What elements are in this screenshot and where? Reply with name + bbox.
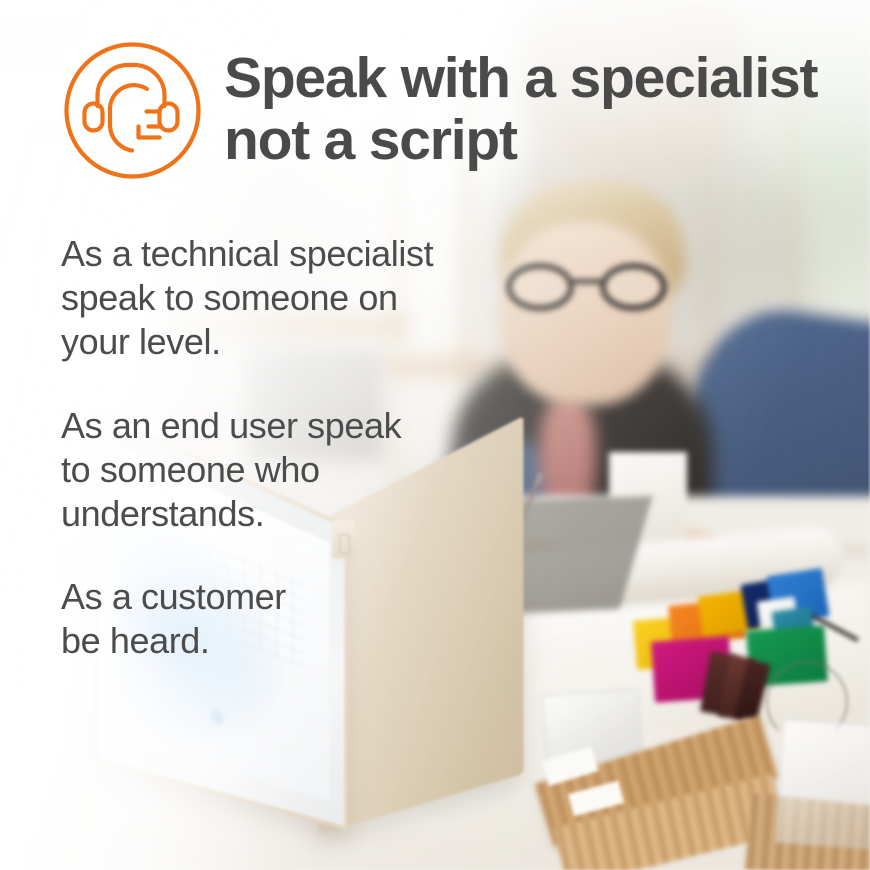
paragraph-line: speak to someone on	[61, 276, 491, 320]
promotional-banner: Speak with a specialist not a script As …	[0, 0, 870, 870]
paragraph-line: be heard.	[61, 619, 491, 663]
paragraph-end-user: As an end user speak to someone who unde…	[61, 404, 491, 536]
paragraph-customer: As a customer be heard.	[61, 575, 491, 663]
paragraph-line: to someone who	[61, 448, 491, 492]
headline-line-1: Speak with a specialist	[224, 48, 824, 110]
paragraph-line: As a customer	[61, 575, 491, 619]
paragraph-technical-specialist: As a technical specialist speak to someo…	[61, 232, 491, 364]
headset-icon	[62, 40, 203, 181]
headline-line-2: not a script	[224, 110, 824, 172]
banner-content: Speak with a specialist not a script As …	[0, 0, 870, 870]
paragraph-line: understands.	[61, 492, 491, 536]
paragraph-line: As an end user speak	[61, 404, 491, 448]
paragraph-line: As a technical specialist	[61, 232, 491, 276]
page-title: Speak with a specialist not a script	[224, 48, 824, 171]
body-copy: As a technical specialist speak to someo…	[61, 232, 491, 663]
paragraph-line: your level.	[61, 320, 491, 364]
